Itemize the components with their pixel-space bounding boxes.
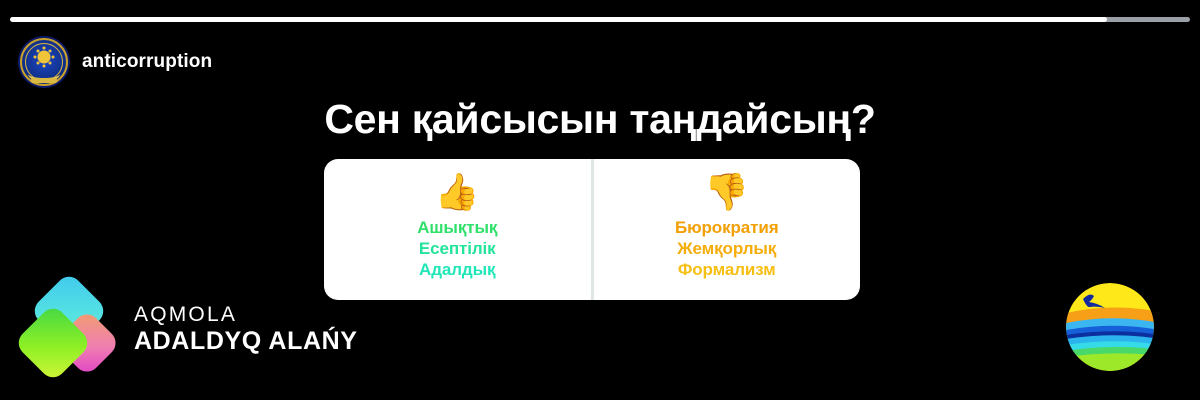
kazakhstan-emblem-icon[interactable] bbox=[18, 36, 70, 88]
poll-option-bad[interactable]: 👎 Бюрократия Жемқорлық Формализм bbox=[594, 159, 861, 300]
poll-option-good-labels: Ашықтық Есептілік Адалдық bbox=[417, 217, 497, 280]
brand-lockup: AQMOLA ADALDYQ ALAŃY bbox=[22, 281, 358, 377]
thumbs-down-icon: 👎 bbox=[704, 172, 749, 214]
emblem-base-icon bbox=[31, 78, 57, 83]
page-title: Сен қайсысын таңдайсың? bbox=[0, 97, 1200, 142]
poll-label-zhemqorlyq: Жемқорлық bbox=[675, 238, 779, 259]
brand-name-line2: ADALDYQ ALAŃY bbox=[134, 329, 358, 354]
poll-option-bad-labels: Бюрократия Жемқорлық Формализм bbox=[675, 217, 779, 280]
region-emblem-art bbox=[1066, 283, 1154, 371]
account-username[interactable]: anticorruption bbox=[82, 51, 212, 73]
poll-label-eseptilik: Есептілік bbox=[417, 238, 497, 259]
story-progress-bar[interactable] bbox=[10, 17, 1190, 22]
story-progress-fill bbox=[10, 17, 1107, 22]
brand-name-line1: AQMOLA bbox=[134, 304, 358, 325]
poll-label-formalizm: Формализм bbox=[675, 259, 779, 280]
thumbs-up-icon: 👍 bbox=[435, 172, 480, 214]
emblem-sun-icon bbox=[38, 50, 51, 63]
poll-label-ashyqtyq: Ашықтық bbox=[417, 217, 497, 238]
poll-label-adaldyq: Адалдық bbox=[417, 259, 497, 280]
brand-text: AQMOLA ADALDYQ ALAŃY bbox=[134, 304, 358, 354]
poll-label-byurokratiya: Бюрократия bbox=[675, 217, 779, 238]
aqmola-diamonds-logo bbox=[22, 281, 118, 377]
poll-option-good[interactable]: 👍 Ашықтық Есептілік Адалдық bbox=[324, 159, 591, 300]
story-header[interactable]: anticorruption bbox=[18, 36, 212, 88]
story-canvas: anticorruption Сен қайсысын таңдайсың? 👍… bbox=[0, 0, 1200, 400]
poll-card: 👍 Ашықтық Есептілік Адалдық 👎 Бюрократия… bbox=[324, 159, 860, 300]
akmola-region-emblem bbox=[1066, 283, 1154, 371]
